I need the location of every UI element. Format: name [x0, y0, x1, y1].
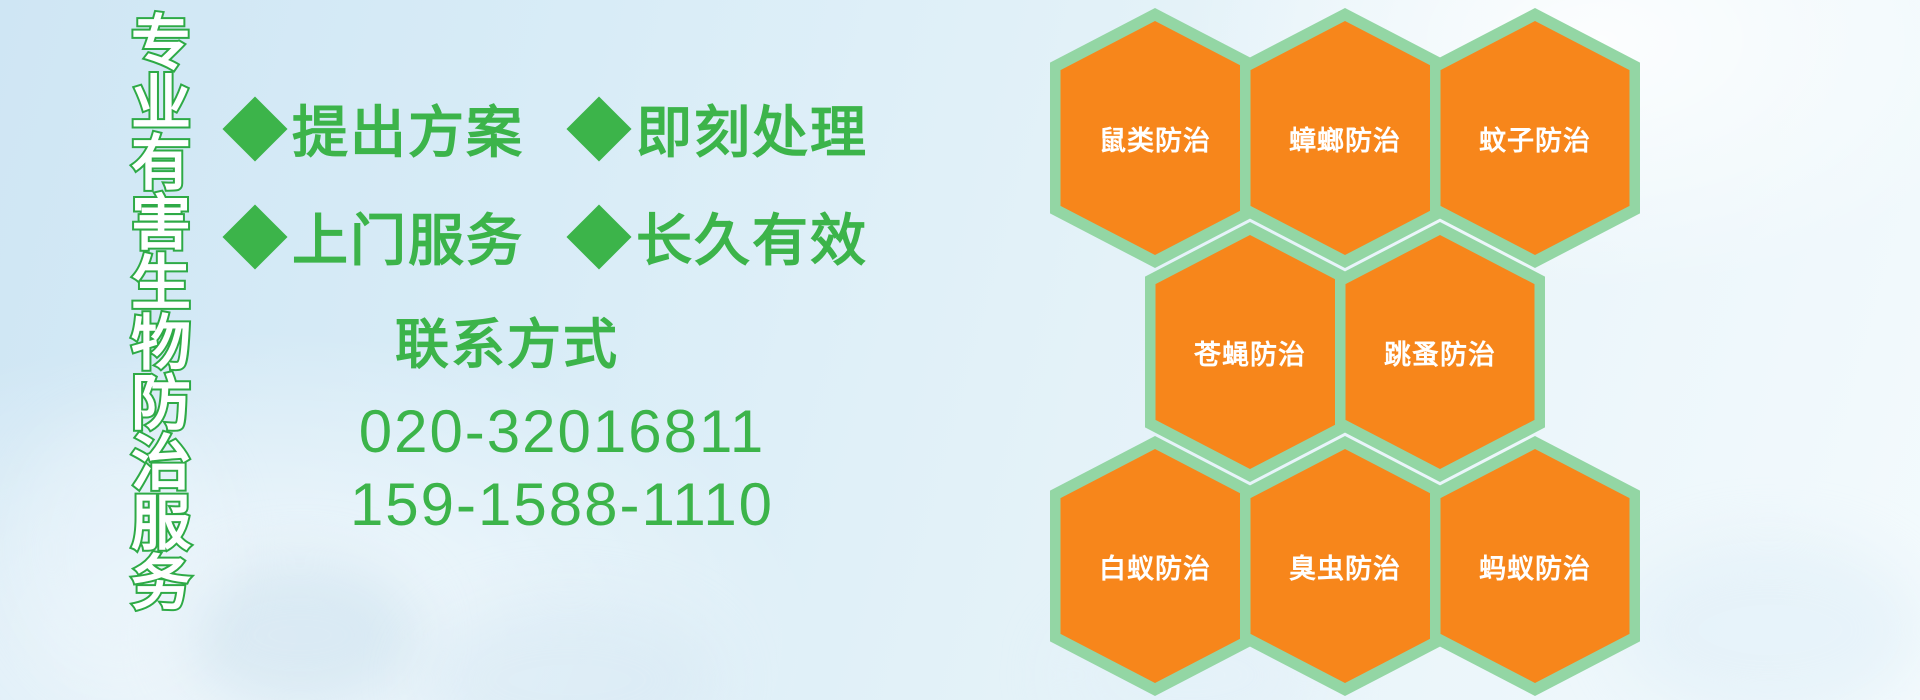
diamond-icon	[222, 204, 287, 269]
slogan-label: 提出方案	[292, 88, 524, 169]
phone-number-landline[interactable]: 020-32016811	[232, 395, 892, 468]
diamond-icon	[222, 96, 287, 161]
service-label: 白蚁防治	[1050, 436, 1260, 696]
slogan-item: 长久有效	[576, 196, 868, 277]
vertical-headline-char: 有	[131, 134, 191, 194]
diamond-icon	[566, 96, 631, 161]
background-blur-shape	[420, 600, 720, 700]
slogan-item: 提出方案	[232, 88, 524, 169]
background-blur-shape	[180, 560, 420, 700]
service-hexagon-bedbug[interactable]: 臭虫防治	[1240, 436, 1450, 696]
vertical-headline-char: 专	[131, 14, 191, 74]
slogan-item: 上门服务	[232, 196, 524, 277]
service-label: 臭虫防治	[1240, 436, 1450, 696]
slogan-row-2: 上门服务 长久有效	[232, 196, 868, 277]
service-hexagon-grid: 鼠类防治 蟑螂防治 蚊子防治 苍蝇防治 跳蚤防治 白蚁防治	[1050, 0, 1770, 700]
slogan-label: 上门服务	[292, 196, 524, 277]
vertical-headline-char: 服	[131, 494, 191, 554]
slogan-label: 长久有效	[636, 196, 868, 277]
vertical-headline-char: 务	[131, 554, 191, 614]
slogan-row-1: 提出方案 即刻处理	[232, 88, 868, 169]
slogan-label: 即刻处理	[636, 88, 868, 169]
service-label: 蚂蚁防治	[1430, 436, 1640, 696]
vertical-headline-char: 治	[131, 434, 191, 494]
vertical-headline-char: 害	[131, 194, 191, 254]
contact-block: 联系方式 020-32016811 159-1588-1110	[232, 300, 892, 541]
slogan-item: 即刻处理	[576, 88, 868, 169]
diamond-icon	[566, 204, 631, 269]
phone-number-mobile[interactable]: 159-1588-1110	[232, 468, 892, 541]
vertical-headline-char: 防	[131, 374, 191, 434]
vertical-headline-char: 业	[131, 74, 191, 134]
vertical-headline: 专 业 有 害 生 物 防 治 服 务	[112, 14, 210, 574]
service-hexagon-termite[interactable]: 白蚁防治	[1050, 436, 1260, 696]
contact-heading: 联系方式	[122, 300, 892, 379]
service-hexagon-ant[interactable]: 蚂蚁防治	[1430, 436, 1640, 696]
promo-banner: 专 业 有 害 生 物 防 治 服 务 提出方案 即刻处理 上门服务 长久有效	[0, 0, 1920, 700]
